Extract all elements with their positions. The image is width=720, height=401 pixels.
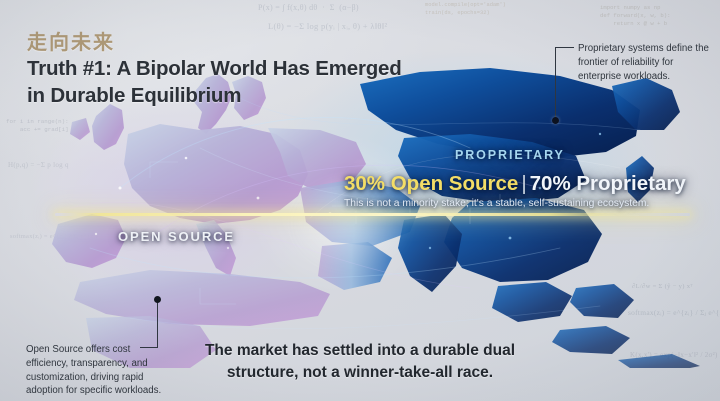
slide-canvas: Ρ(x) = ∫ f(x,θ) dθ · Σ (α−β) L(θ) = −Σ l…: [0, 0, 720, 401]
vignette-overlay: [0, 0, 720, 401]
